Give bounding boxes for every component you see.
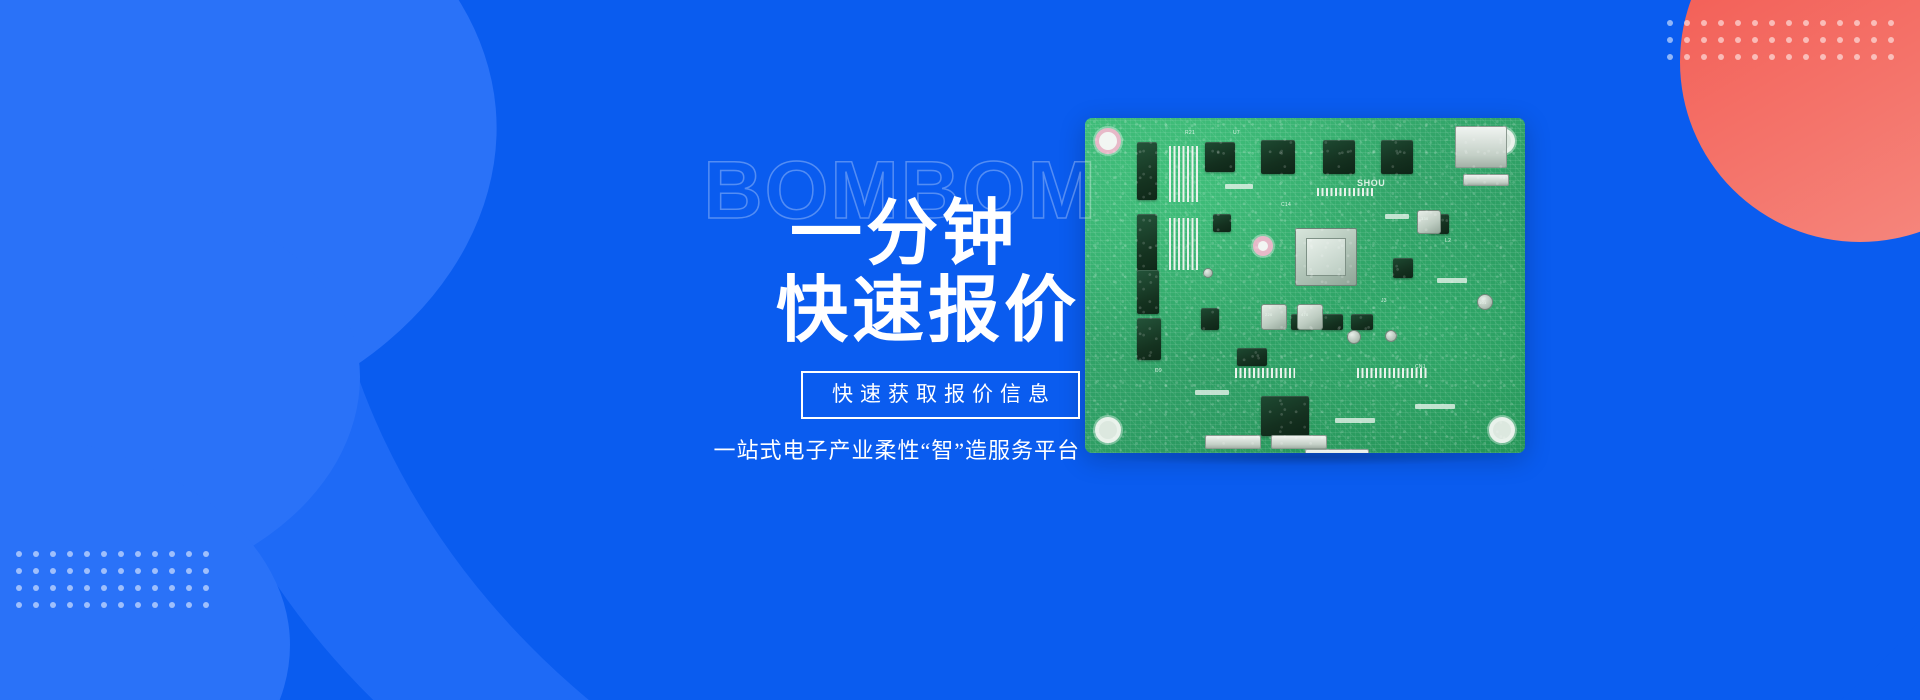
pcb-substrate: R21 U7 C14 J3 SHOU D9 L2 CN1 330 220 470…	[1085, 118, 1525, 453]
pcb-mounting-hole	[1095, 128, 1121, 154]
pcb-chip	[1201, 308, 1219, 330]
headline: 一分钟 快速报价	[640, 198, 1080, 349]
pcb-pad	[1415, 404, 1455, 409]
pcb-processor	[1295, 228, 1357, 286]
pcb-mounting-hole	[1095, 417, 1121, 443]
pcb-chip	[1205, 142, 1235, 172]
pcb-chip	[1261, 396, 1309, 436]
pcb-chip-label: 470	[1301, 312, 1309, 317]
pcb-connector	[1271, 435, 1327, 449]
pcb-silkscreen-text: U7	[1233, 130, 1240, 136]
pcb-pin-header	[1169, 218, 1199, 270]
pcb-capacitor	[1385, 330, 1397, 342]
pcb-capacitor	[1347, 330, 1361, 344]
headline-line-1: 一分钟	[640, 198, 1080, 271]
pcb-pad	[1385, 214, 1409, 219]
quote-info-badge[interactable]: 快速获取报价信息	[801, 371, 1080, 419]
pcb-capacitor	[1477, 294, 1493, 310]
pcb-inductor	[1297, 304, 1323, 330]
pcb-pin-header	[1357, 368, 1427, 378]
pcb-chip	[1351, 314, 1373, 330]
pcb-pad	[1335, 418, 1375, 423]
pcb-board-image: R21 U7 C14 J3 SHOU D9 L2 CN1 330 220 470…	[1085, 118, 1525, 453]
pcb-inductor	[1417, 210, 1441, 234]
pcb-silkscreen-logo: SHOU	[1357, 178, 1385, 188]
pcb-chip	[1291, 314, 1313, 330]
pcb-silkscreen-text: C14	[1281, 202, 1291, 208]
pcb-pad	[1437, 278, 1467, 283]
pcb-chip	[1321, 314, 1343, 330]
pcb-chip	[1213, 214, 1231, 232]
pcb-chip	[1137, 142, 1157, 200]
pcb-inductor	[1261, 304, 1287, 330]
pcb-processor-die	[1306, 238, 1347, 276]
pcb-chip	[1137, 318, 1161, 360]
pcb-chip-label: 220	[1265, 312, 1273, 317]
pcb-connector	[1455, 126, 1507, 168]
promo-banner: R21 U7 C14 J3 SHOU D9 L2 CN1 330 220 470…	[0, 0, 1920, 700]
pcb-chip	[1137, 270, 1159, 314]
pcb-silkscreen-text: D9	[1155, 368, 1162, 374]
pcb-mounting-hole	[1253, 236, 1273, 256]
pcb-silkscreen-text: J3	[1381, 298, 1387, 304]
pcb-silkscreen-text: CN1	[1415, 364, 1426, 370]
pcb-chip	[1429, 214, 1449, 234]
pcb-capacitor	[1203, 268, 1213, 278]
pcb-connector	[1305, 449, 1369, 453]
pcb-chip	[1261, 140, 1295, 174]
quote-info-badge-label: 快速获取报价信息	[825, 382, 1056, 407]
headline-line-2: 快速报价	[640, 275, 1080, 348]
dot-grid-top-right	[1667, 20, 1894, 60]
tagline: 一站式电子产业柔性“智”造服务平台	[640, 433, 1080, 465]
pcb-mounting-hole	[1489, 417, 1515, 443]
pcb-chip	[1237, 348, 1267, 366]
pcb-chip-label: 101	[1479, 300, 1487, 305]
pcb-connector	[1205, 435, 1261, 449]
pcb-pad	[1225, 184, 1253, 189]
pcb-chip	[1323, 140, 1355, 174]
pcb-pin-header	[1317, 188, 1373, 196]
pcb-silkscreen-text: R21	[1185, 130, 1195, 136]
pcb-chip-label: 330	[1421, 216, 1429, 221]
pcb-pad	[1195, 390, 1229, 395]
pcb-chip	[1137, 214, 1157, 272]
pcb-connector	[1463, 174, 1509, 186]
pcb-chip	[1381, 140, 1413, 174]
pcb-pin-header	[1169, 146, 1199, 202]
banner-content: BOMBOM 一分钟 快速报价 快速获取报价信息 一站式电子产业柔性“智”造服务…	[640, 150, 1080, 465]
pcb-silkscreen-text: L2	[1445, 238, 1451, 244]
dot-grid-bottom-left	[16, 551, 209, 608]
pcb-chip	[1393, 258, 1413, 278]
pcb-mounting-hole	[1489, 128, 1515, 154]
pcb-pin-header	[1235, 368, 1295, 378]
